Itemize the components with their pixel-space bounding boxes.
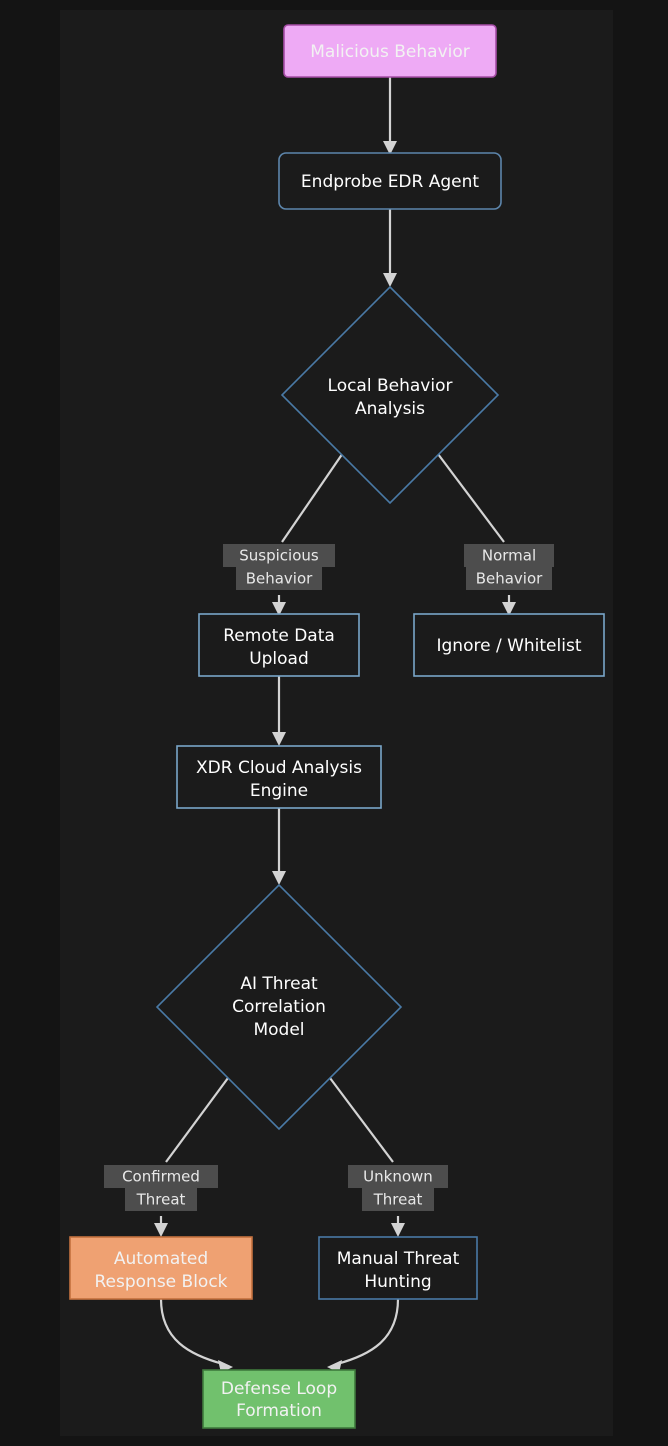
edge-label-line: Unknown (363, 1168, 433, 1186)
edge-local-analysis-to-ignore-whitelist (435, 450, 516, 616)
arrow-head-icon (272, 732, 286, 746)
diagram-page: Suspicious Behavior Normal Behavior Conf… (0, 0, 668, 1446)
edge-label-line: Behavior (246, 570, 313, 588)
node-ai-threat-correlation-model[interactable]: AI Threat Correlation Model (157, 885, 401, 1129)
edge-line (166, 1078, 228, 1162)
node-label: Manual Threat (337, 1249, 460, 1269)
node-defense-loop-formation[interactable]: Defense Loop Formation (203, 1370, 355, 1428)
edge-line (435, 450, 504, 542)
edge-label-suspicious-behavior: Suspicious Behavior (223, 544, 335, 590)
edge-label-unknown-threat: Unknown Threat (348, 1165, 448, 1211)
edge-remote-upload-to-xdr-engine (272, 676, 286, 746)
edge-label-line: Behavior (476, 570, 543, 588)
node-label: Ignore / Whitelist (437, 636, 582, 656)
edge-line (161, 1299, 223, 1364)
node-automated-response-block[interactable]: Automated Response Block (70, 1237, 252, 1299)
flowchart-svg: Suspicious Behavior Normal Behavior Conf… (60, 10, 613, 1436)
edge-malicious-to-endprobe (383, 77, 397, 155)
edge-label-line: Suspicious (239, 547, 319, 565)
edge-endprobe-to-local-analysis (383, 209, 397, 287)
edge-xdr-engine-to-ai-model (272, 808, 286, 885)
node-label: Malicious Behavior (310, 42, 470, 62)
node-remote-data-upload[interactable]: Remote Data Upload (199, 614, 359, 676)
node-label: Remote Data (223, 626, 335, 646)
arrow-head-icon (272, 871, 286, 885)
nodes-layer: Malicious Behavior Endprobe EDR Agent Lo… (70, 25, 604, 1428)
edge-label-line: Confirmed (122, 1168, 200, 1186)
edge-ai-model-to-automated-response (154, 1078, 228, 1237)
edge-line (282, 450, 345, 542)
node-label: Engine (250, 781, 308, 801)
edge-label-normal-behavior: Normal Behavior (464, 544, 554, 590)
node-label: Analysis (355, 399, 425, 419)
node-label: Automated (114, 1249, 208, 1269)
edge-label-line: Threat (373, 1191, 423, 1209)
node-label: Local Behavior (328, 376, 453, 396)
node-ignore-whitelist[interactable]: Ignore / Whitelist (414, 614, 604, 676)
edge-ai-model-to-manual-hunting (330, 1078, 405, 1237)
arrow-head-icon (383, 273, 397, 287)
node-label: XDR Cloud Analysis (196, 758, 362, 778)
node-manual-threat-hunting[interactable]: Manual Threat Hunting (319, 1237, 477, 1299)
node-label: Formation (236, 1401, 322, 1421)
edge-manual-hunting-to-defense-loop (327, 1299, 398, 1373)
node-local-behavior-analysis[interactable]: Local Behavior Analysis (282, 287, 498, 503)
node-label: AI Threat (240, 974, 318, 994)
edge-label-line: Threat (136, 1191, 186, 1209)
node-label: Endprobe EDR Agent (301, 172, 479, 192)
edge-line (337, 1299, 398, 1364)
node-label: Upload (249, 649, 309, 669)
edge-label-confirmed-threat: Confirmed Threat (104, 1165, 218, 1211)
edge-automated-response-to-defense-loop (161, 1299, 233, 1373)
node-label: Response Block (94, 1272, 227, 1292)
diagram-canvas: Suspicious Behavior Normal Behavior Conf… (60, 10, 613, 1436)
edge-label-line: Normal (482, 547, 536, 565)
node-label: Hunting (364, 1272, 431, 1292)
node-label: Model (253, 1020, 304, 1040)
node-endprobe-edr-agent[interactable]: Endprobe EDR Agent (279, 153, 501, 209)
node-malicious-behavior[interactable]: Malicious Behavior (284, 25, 496, 77)
arrow-head-icon (391, 1223, 405, 1237)
node-label: Correlation (232, 997, 326, 1017)
node-label: Defense Loop (221, 1379, 337, 1399)
node-xdr-cloud-analysis-engine[interactable]: XDR Cloud Analysis Engine (177, 746, 381, 808)
edge-local-analysis-to-remote-upload (272, 450, 345, 616)
edge-line (330, 1078, 393, 1162)
arrow-head-icon (154, 1223, 168, 1237)
